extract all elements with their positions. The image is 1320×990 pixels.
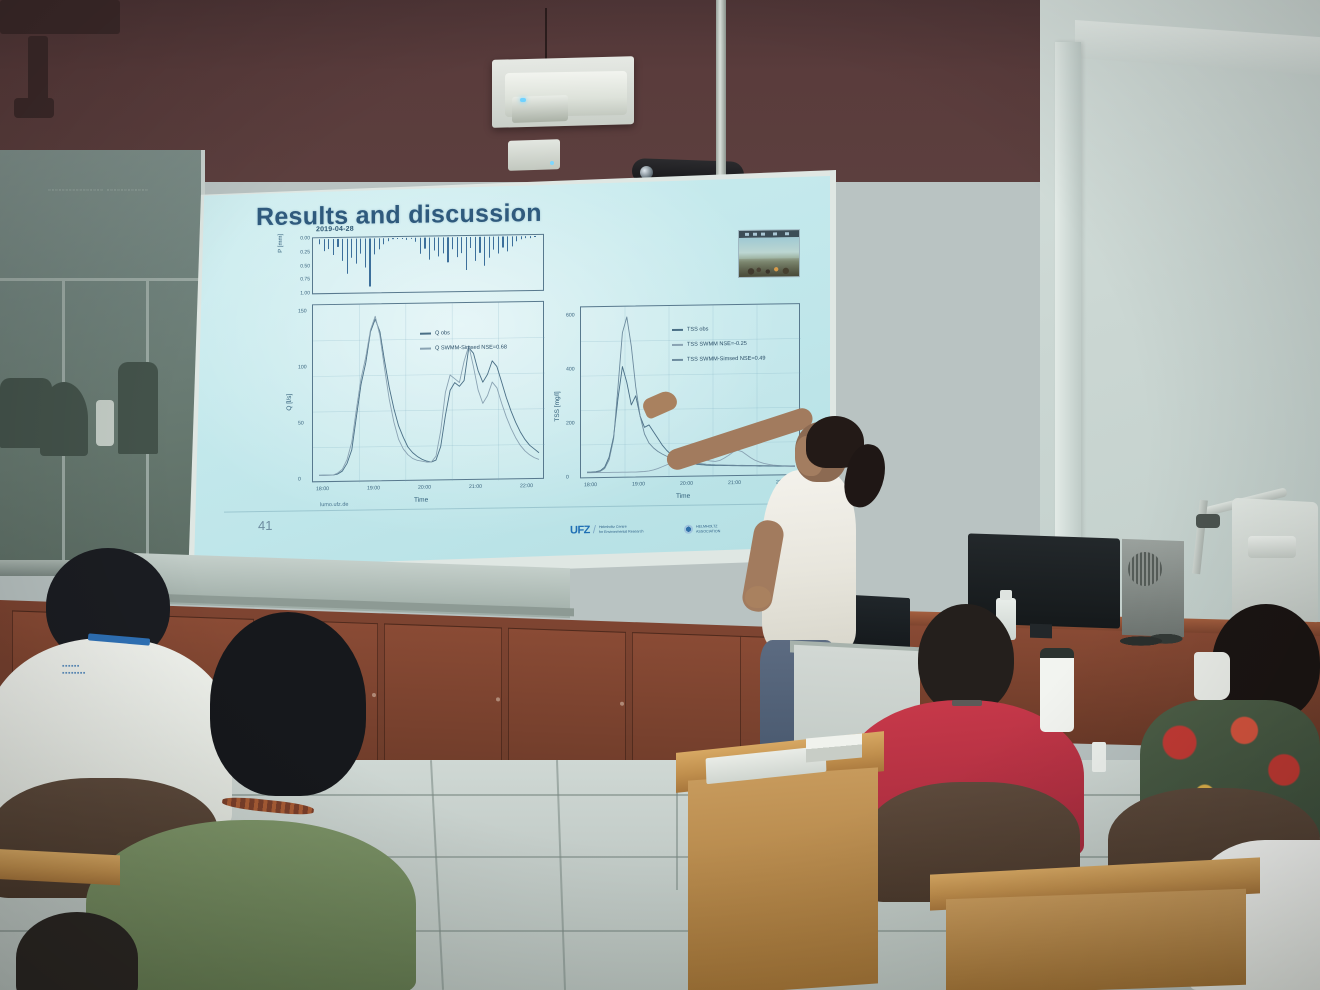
cabinet-knob-icon[interactable] [620,702,624,706]
pc-fan-grill-icon [1128,552,1162,586]
precip-bar [484,237,485,266]
legend-swatch-icon [672,359,683,361]
precip-bar [351,239,352,258]
precip-bar [374,238,375,254]
precip-bar [392,238,393,239]
precip-bar [493,237,494,250]
student-desk-center-front [688,767,878,990]
axis-tick-label: 50 [298,420,304,426]
precip-y-tick: 0.00 [288,235,310,241]
precip-y-tick: 0.50 [288,263,310,269]
legend-swatch-icon [672,344,683,346]
presenter-lower-hand [745,586,771,608]
precip-bar [347,239,348,274]
grid-line [581,373,801,376]
legend-label: TSS obs [687,324,708,334]
precip-bar [383,238,384,244]
student-desk-left [0,849,120,886]
ceiling-duct-3 [14,98,54,118]
precip-bar [356,239,357,264]
precip-date-label: 2019-04-28 [316,226,354,234]
precip-y-tick: 1.00 [288,290,310,296]
precip-bar [424,238,425,249]
legend-item: TSS SWMM NSE=-0.25 [672,339,766,350]
precip-bar [516,236,517,241]
axis-tick-label: 150 [298,308,307,314]
thumbnail-image [739,237,799,277]
projector-cable [545,8,547,62]
left-chart-legend: Q obs Q SWMM-Simsed NSE=0.68 [420,327,507,358]
left-chart-y-axis-label: Q [l/s] [286,394,293,411]
window-reflection-figure-3 [118,362,158,454]
legend-swatch-icon [672,329,683,331]
precip-bar-group [313,235,543,238]
thumbnail-control-dot-icon[interactable] [745,233,749,236]
precip-bar [379,238,380,249]
slide-source-note: lumo.ufz.de [320,502,348,508]
thumbnail-crowd [739,258,799,277]
precip-bar [415,238,416,242]
axis-tick-label: 20:00 [418,485,431,491]
student-desk-right-front [946,889,1246,990]
audience-head [918,604,1014,714]
helmholtz-logo: HELMHOLTZ ASSOCIATION [684,524,720,534]
sanitizer-pump-icon [1000,590,1012,600]
axis-tick-label: 100 [298,364,307,370]
right-chart-x-axis-label: Time [676,493,690,500]
thumbnail-control-dot-icon[interactable] [785,232,789,235]
presentation-room-photo: ▫▫▫▫▫▫▫▫▫▫▫▫▫▫▫▫ ▫▫▫▫▫▫▫▫▫▫▫▫ Results an… [0,0,1320,990]
helmholtz-line2: ASSOCIATION [696,529,720,533]
precip-bar [512,236,513,246]
precipitation-chart [312,234,544,294]
legend-item: TSS SWMM-Simsed NSE=0.49 [672,354,766,365]
projector-power-led-icon [520,98,526,102]
wall-pillar [1055,42,1081,562]
legend-item: Q obs [420,327,507,338]
video-thumbnail-window[interactable] [738,229,800,278]
precip-bar [369,238,370,286]
axis-tick-label: 21:00 [469,484,482,490]
precip-bar [342,239,343,261]
precip-bar [502,236,503,247]
axis-tick-label: 19:00 [632,481,645,487]
slide-footer-divider [224,503,804,513]
precip-bar [365,239,366,268]
helmholtz-logo-mark-icon [684,525,693,534]
right-chart-legend: TSS obs TSS SWMM NSE=-0.25 TSS SWMM-Sims… [672,324,766,370]
precip-bar [420,238,421,254]
axis-tick-label: 0 [566,475,569,481]
right-chart-y-axis-label: TSS [mg/l] [554,391,561,421]
ceiling-duct-2 [28,36,48,102]
precip-bar [452,237,453,249]
window-mullion-h [0,278,205,281]
precip-bar [461,237,462,253]
axis-tick-label: 18:00 [316,486,329,492]
desk-lamp [1248,536,1296,558]
axis-tick-label: 22:00 [520,483,533,489]
ufz-logo: UFZ / Helmholtz Centre for Environmental… [570,523,644,536]
precip-y-axis-label: P [mm] [278,234,284,253]
helmholtz-logo-text: HELMHOLTZ ASSOCIATION [696,524,720,534]
legend-item: Q SWMM-Simsed NSE=0.68 [420,342,507,353]
precip-bar [337,239,338,247]
legend-item: TSS obs [672,324,766,335]
axis-tick-label: 19:00 [367,485,380,491]
white-chair [1232,498,1318,623]
precip-bar [411,238,412,239]
ufz-logo-line2: for Environmental Research [599,529,644,534]
precip-bar [328,239,329,249]
axis-tick-label: 400 [566,366,575,372]
ufz-logo-subtitle: Helmholtz Centre for Environmental Resea… [599,525,644,535]
precip-bar [498,237,499,255]
precip-bar [470,237,471,248]
axis-tick-label: 18:00 [584,482,597,488]
window-reflection-figure-2 [40,382,88,456]
cabinet-knob-icon[interactable] [372,693,376,697]
legend-swatch-icon [420,333,431,335]
precip-bar [447,237,448,262]
thumbnail-control-dot-icon[interactable] [761,233,765,236]
precip-bar [333,239,334,255]
book-stack [806,734,862,763]
lanyard [952,700,982,706]
left-chart-x-axis-label: Time [414,497,428,504]
slide-page-number: 41 [258,518,272,533]
precip-y-tick: 0.75 [288,277,310,283]
precip-bar [397,238,398,239]
face-mask [1194,652,1230,700]
shirt-print-text: ▪▪▪▪▪▪ ▪▪▪▪▪▪▪▪ [62,663,86,677]
ufz-logo-mark: UFZ [570,524,590,536]
precip-bar [429,238,430,260]
cabinet-door[interactable] [384,623,502,777]
small-bottle [1092,742,1106,772]
legend-label: TSS SWMM NSE=-0.25 [687,339,747,350]
slide-title: Results and discussion [256,199,542,232]
legend-label: TSS SWMM-Simsed NSE=0.49 [687,354,766,365]
presentation-slide: Results and discussion 2019-04-28 P [mm]… [198,173,828,564]
legend-swatch-icon [420,348,431,350]
precip-bar [475,237,476,261]
junction-box-led-icon [550,161,554,165]
precip-bar [324,239,325,251]
thumbnail-control-dot-icon[interactable] [773,232,777,235]
precip-bar [521,236,522,239]
precip-bar [479,237,480,253]
axis-tick-label: 600 [566,312,575,318]
cable-bundle [1120,630,1190,652]
microphone-head-icon [1196,514,1220,528]
precip-bar [530,236,531,238]
precip-bar [525,236,526,238]
grid-line [313,444,545,447]
legend-label: Q SWMM-Simsed NSE=0.68 [435,342,507,353]
window-reflection-lamp [96,400,114,446]
cabinet-knob-icon[interactable] [496,697,500,701]
audience-head [210,612,366,796]
grid-line [581,407,801,410]
precip-bar [438,237,439,256]
precip-bar [388,238,389,241]
window-etched-text: ▫▫▫▫▫▫▫▫▫▫▫▫▫▫▫▫ ▫▫▫▫▫▫▫▫▫▫▫▫ [48,185,178,213]
axis-tick-label: 20:00 [680,481,693,487]
wall-junction-box [508,139,560,171]
precip-bar [406,238,407,240]
precip-bar [402,238,403,239]
precip-bar [443,237,444,253]
legend-label: Q obs [435,328,450,338]
precip-bar [507,236,508,251]
axis-tick-label: 200 [566,420,575,426]
grid-line [313,373,545,376]
precip-bar [466,237,467,270]
precip-bar [457,237,458,257]
precip-y-tick: 0.25 [288,249,310,255]
precip-bar [319,239,320,244]
precip-bar [489,237,490,258]
monitor-stand [1030,624,1052,639]
axis-tick-label: 0 [298,476,301,482]
axis-tick-label: 21:00 [728,480,741,486]
precip-bar [534,236,535,237]
glass-partition-window: ▫▫▫▫▫▫▫▫▫▫▫▫▫▫▫▫ ▫▫▫▫▫▫▫▫▫▫▫▫ [0,150,205,565]
thumbnail-control-dot-icon[interactable] [753,233,757,236]
ceiling-duct-1 [0,0,120,34]
ufz-logo-slash: / [593,524,596,536]
precip-bar [360,239,361,254]
precip-bar [434,237,435,250]
water-bottle [1040,648,1074,732]
cabinet-door[interactable] [508,628,626,782]
